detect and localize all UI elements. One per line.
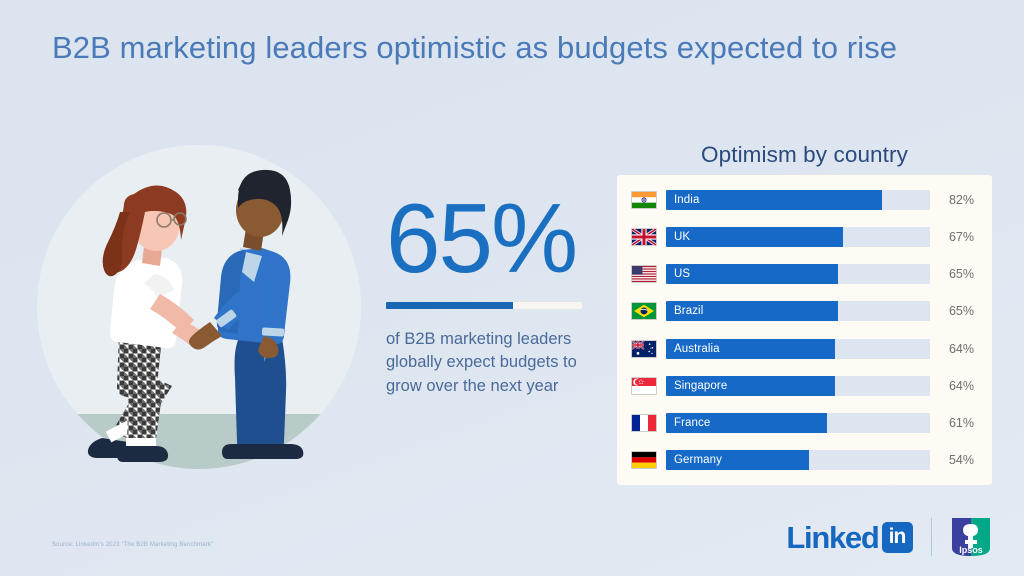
value-label: 65% — [930, 304, 976, 318]
france-flag-icon — [631, 414, 657, 432]
logo-group: Linked in Ipsos — [786, 516, 992, 558]
value-label: 61% — [930, 416, 976, 430]
country-label: India — [674, 190, 699, 210]
svg-text:Ipsos: Ipsos — [959, 545, 983, 555]
country-label: UK — [674, 227, 690, 247]
country-label: Germany — [674, 450, 722, 470]
ipsos-logo[interactable]: Ipsos — [950, 516, 992, 558]
stat-progress-fill — [386, 302, 513, 309]
source-note: Source: LinkedIn's 2023 “The B2B Marketi… — [52, 542, 213, 548]
chart-title: Optimism by country — [617, 142, 992, 168]
germany-flag-icon — [631, 451, 657, 469]
bar-track: Brazil — [666, 301, 930, 321]
country-label: Australia — [674, 339, 720, 359]
chart-row: Australia64% — [631, 338, 976, 360]
chart-row: Germany54% — [631, 449, 976, 471]
infographic-page: B2B marketing leaders optimistic as budg… — [0, 0, 1024, 576]
value-label: 65% — [930, 267, 976, 281]
bar-track: India — [666, 190, 930, 210]
brazil-flag-icon — [631, 302, 657, 320]
country-label: US — [674, 264, 690, 284]
bar-track: Germany — [666, 450, 930, 470]
chart-row: Brazil65% — [631, 300, 976, 322]
australia-flag-icon — [631, 340, 657, 358]
chart-row: Singapore64% — [631, 375, 976, 397]
chart-row: UK67% — [631, 226, 976, 248]
value-label: 82% — [930, 193, 976, 207]
handshake-illustration — [34, 142, 364, 472]
bar-track: Singapore — [666, 376, 930, 396]
value-label: 64% — [930, 342, 976, 356]
us-flag-icon — [631, 265, 657, 283]
optimism-by-country-chart: India82%UK67%US65%Brazil65%Australia64%S… — [617, 175, 992, 485]
bar-fill — [666, 227, 843, 247]
bar-track: Australia — [666, 339, 930, 359]
chart-row: France61% — [631, 412, 976, 434]
country-label: France — [674, 413, 710, 433]
stat-value: 65% — [386, 190, 596, 286]
logo-divider — [931, 518, 933, 556]
value-label: 54% — [930, 453, 976, 467]
country-label: Singapore — [674, 376, 727, 396]
bar-track: UK — [666, 227, 930, 247]
value-label: 67% — [930, 230, 976, 244]
country-label: Brazil — [674, 301, 703, 321]
stat-description: of B2B marketing leaders globally expect… — [386, 328, 596, 398]
linkedin-in-icon: in — [882, 522, 913, 553]
chart-row: India82% — [631, 189, 976, 211]
bar-track: France — [666, 413, 930, 433]
stat-progress-track — [386, 302, 582, 309]
page-title: B2B marketing leaders optimistic as budg… — [52, 30, 992, 66]
linkedin-logo[interactable]: Linked in — [786, 522, 912, 553]
value-label: 64% — [930, 379, 976, 393]
uk-flag-icon — [631, 228, 657, 246]
headline-stat: 65% of B2B marketing leaders globally ex… — [386, 190, 596, 398]
bar-fill — [666, 264, 838, 284]
chart-row: US65% — [631, 263, 976, 285]
india-flag-icon — [631, 191, 657, 209]
linkedin-wordmark: Linked — [786, 522, 878, 553]
bar-track: US — [666, 264, 930, 284]
singapore-flag-icon — [631, 377, 657, 395]
